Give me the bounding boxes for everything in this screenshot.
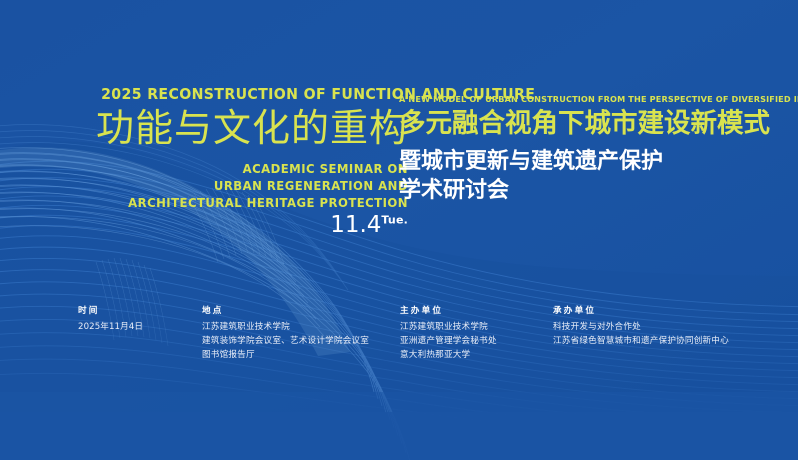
event-date-display: 11.4Tue. [78,213,408,238]
english-theme-title: A NEW MODEL OF URBAN CONSTRUCTION FROM T… [399,95,742,105]
info-value-time-1: 2025年11月4日 [78,321,143,335]
info-value-place-2: 建筑装饰学院会议室、艺术设计学院会议室 [202,335,369,349]
chinese-theme-title: 多元融合视角下城市建设新模式 [399,109,749,139]
info-heading-co-organizer: 承办单位 [553,306,729,316]
english-subtitle-line-3: ARCHITECTURAL HERITAGE PROTECTION [98,194,408,211]
info-column-co-organizer: 承办单位 科技开发与对外合作处 江苏省绿色智慧城市和遗产保护协同创新中心 [553,306,729,349]
info-heading-time: 时间 [78,306,143,316]
english-subtitle-line-2: URBAN REGENERATION AND [98,177,408,194]
chinese-subtitle-line-1: 暨城市更新与建筑遗产保护 [399,147,749,176]
headline-left-block: 2025 RECONSTRUCTION OF FUNCTION AND CULT… [78,86,408,238]
event-weekday: Tue. [381,213,408,226]
info-value-organizer-3: 意大利热那亚大学 [400,349,497,363]
info-column-organizer: 主办单位 江苏建筑职业技术学院 亚洲遗产管理学会秘书处 意大利热那亚大学 [400,306,497,363]
chinese-main-title: 功能与文化的重构 [78,106,408,151]
info-column-place: 地点 江苏建筑职业技术学院 建筑装饰学院会议室、艺术设计学院会议室 图书馆报告厅 [202,306,369,363]
info-value-organizer-2: 亚洲遗产管理学会秘书处 [400,335,497,349]
info-value-co-organizer-2: 江苏省绿色智慧城市和遗产保护协同创新中心 [553,335,729,349]
english-subtitle-block: ACADEMIC SEMINAR ON URBAN REGENERATION A… [98,160,408,211]
info-value-organizer-1: 江苏建筑职业技术学院 [400,321,497,335]
english-main-title: 2025 RECONSTRUCTION OF FUNCTION AND CULT… [101,86,408,103]
info-value-place-1: 江苏建筑职业技术学院 [202,321,369,335]
info-heading-place: 地点 [202,306,369,316]
headline-right-block: A NEW MODEL OF URBAN CONSTRUCTION FROM T… [399,95,749,205]
poster-canvas: 2025 RECONSTRUCTION OF FUNCTION AND CULT… [0,0,798,460]
info-column-time: 时间 2025年11月4日 [78,306,143,335]
info-heading-organizer: 主办单位 [400,306,497,316]
english-subtitle-line-1: ACADEMIC SEMINAR ON [98,160,408,177]
info-value-place-3: 图书馆报告厅 [202,349,369,363]
info-value-co-organizer-1: 科技开发与对外合作处 [553,321,729,335]
event-info-row: 时间 2025年11月4日 地点 江苏建筑职业技术学院 建筑装饰学院会议室、艺术… [0,306,798,386]
event-date-number: 11.4 [330,212,381,238]
chinese-subtitle-block: 暨城市更新与建筑遗产保护 学术研讨会 [399,147,749,206]
poster-content: 2025 RECONSTRUCTION OF FUNCTION AND CULT… [0,0,798,460]
chinese-subtitle-line-2: 学术研讨会 [399,176,749,205]
